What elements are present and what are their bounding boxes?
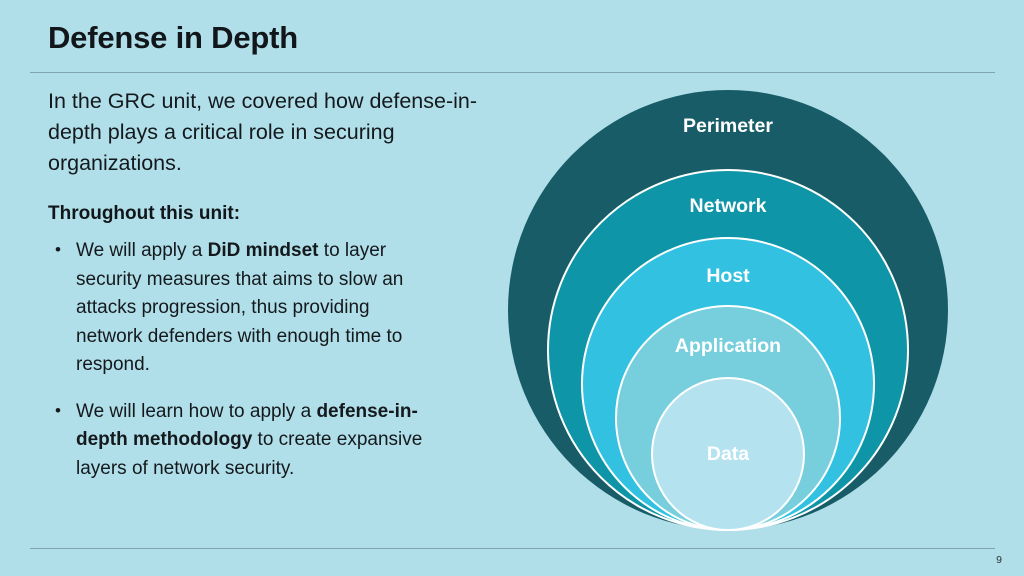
- slide-canvas: Defense in Depth In the GRC unit, we cov…: [0, 0, 1024, 576]
- footer-divider: [30, 548, 995, 549]
- list-item: We will learn how to apply a defense-in-…: [48, 398, 436, 484]
- intro-paragraph: In the GRC unit, we covered how defense-…: [48, 86, 478, 179]
- text-column: In the GRC unit, we covered how defense-…: [48, 86, 478, 501]
- ring-label-data: Data: [707, 443, 749, 465]
- ring-label-application: Application: [675, 335, 781, 357]
- list-item: We will apply a DiD mindset to layer sec…: [48, 237, 436, 380]
- defense-in-depth-diagram: PerimeterNetworkHostApplicationData: [490, 78, 970, 548]
- bullet-text-prefix: We will learn how to apply a: [76, 401, 316, 422]
- bullet-list: We will apply a DiD mindset to layer sec…: [48, 237, 478, 483]
- subheading: Throughout this unit:: [48, 203, 478, 225]
- page-title: Defense in Depth: [48, 20, 298, 56]
- ring-label-network: Network: [690, 195, 767, 217]
- bullet-text-prefix: We will apply a: [76, 240, 208, 261]
- page-number: 9: [996, 554, 1002, 566]
- ring-label-perimeter: Perimeter: [683, 115, 773, 137]
- bullet-text-bold: DiD mindset: [208, 240, 319, 261]
- ring-label-host: Host: [706, 265, 750, 287]
- title-divider: [30, 72, 995, 73]
